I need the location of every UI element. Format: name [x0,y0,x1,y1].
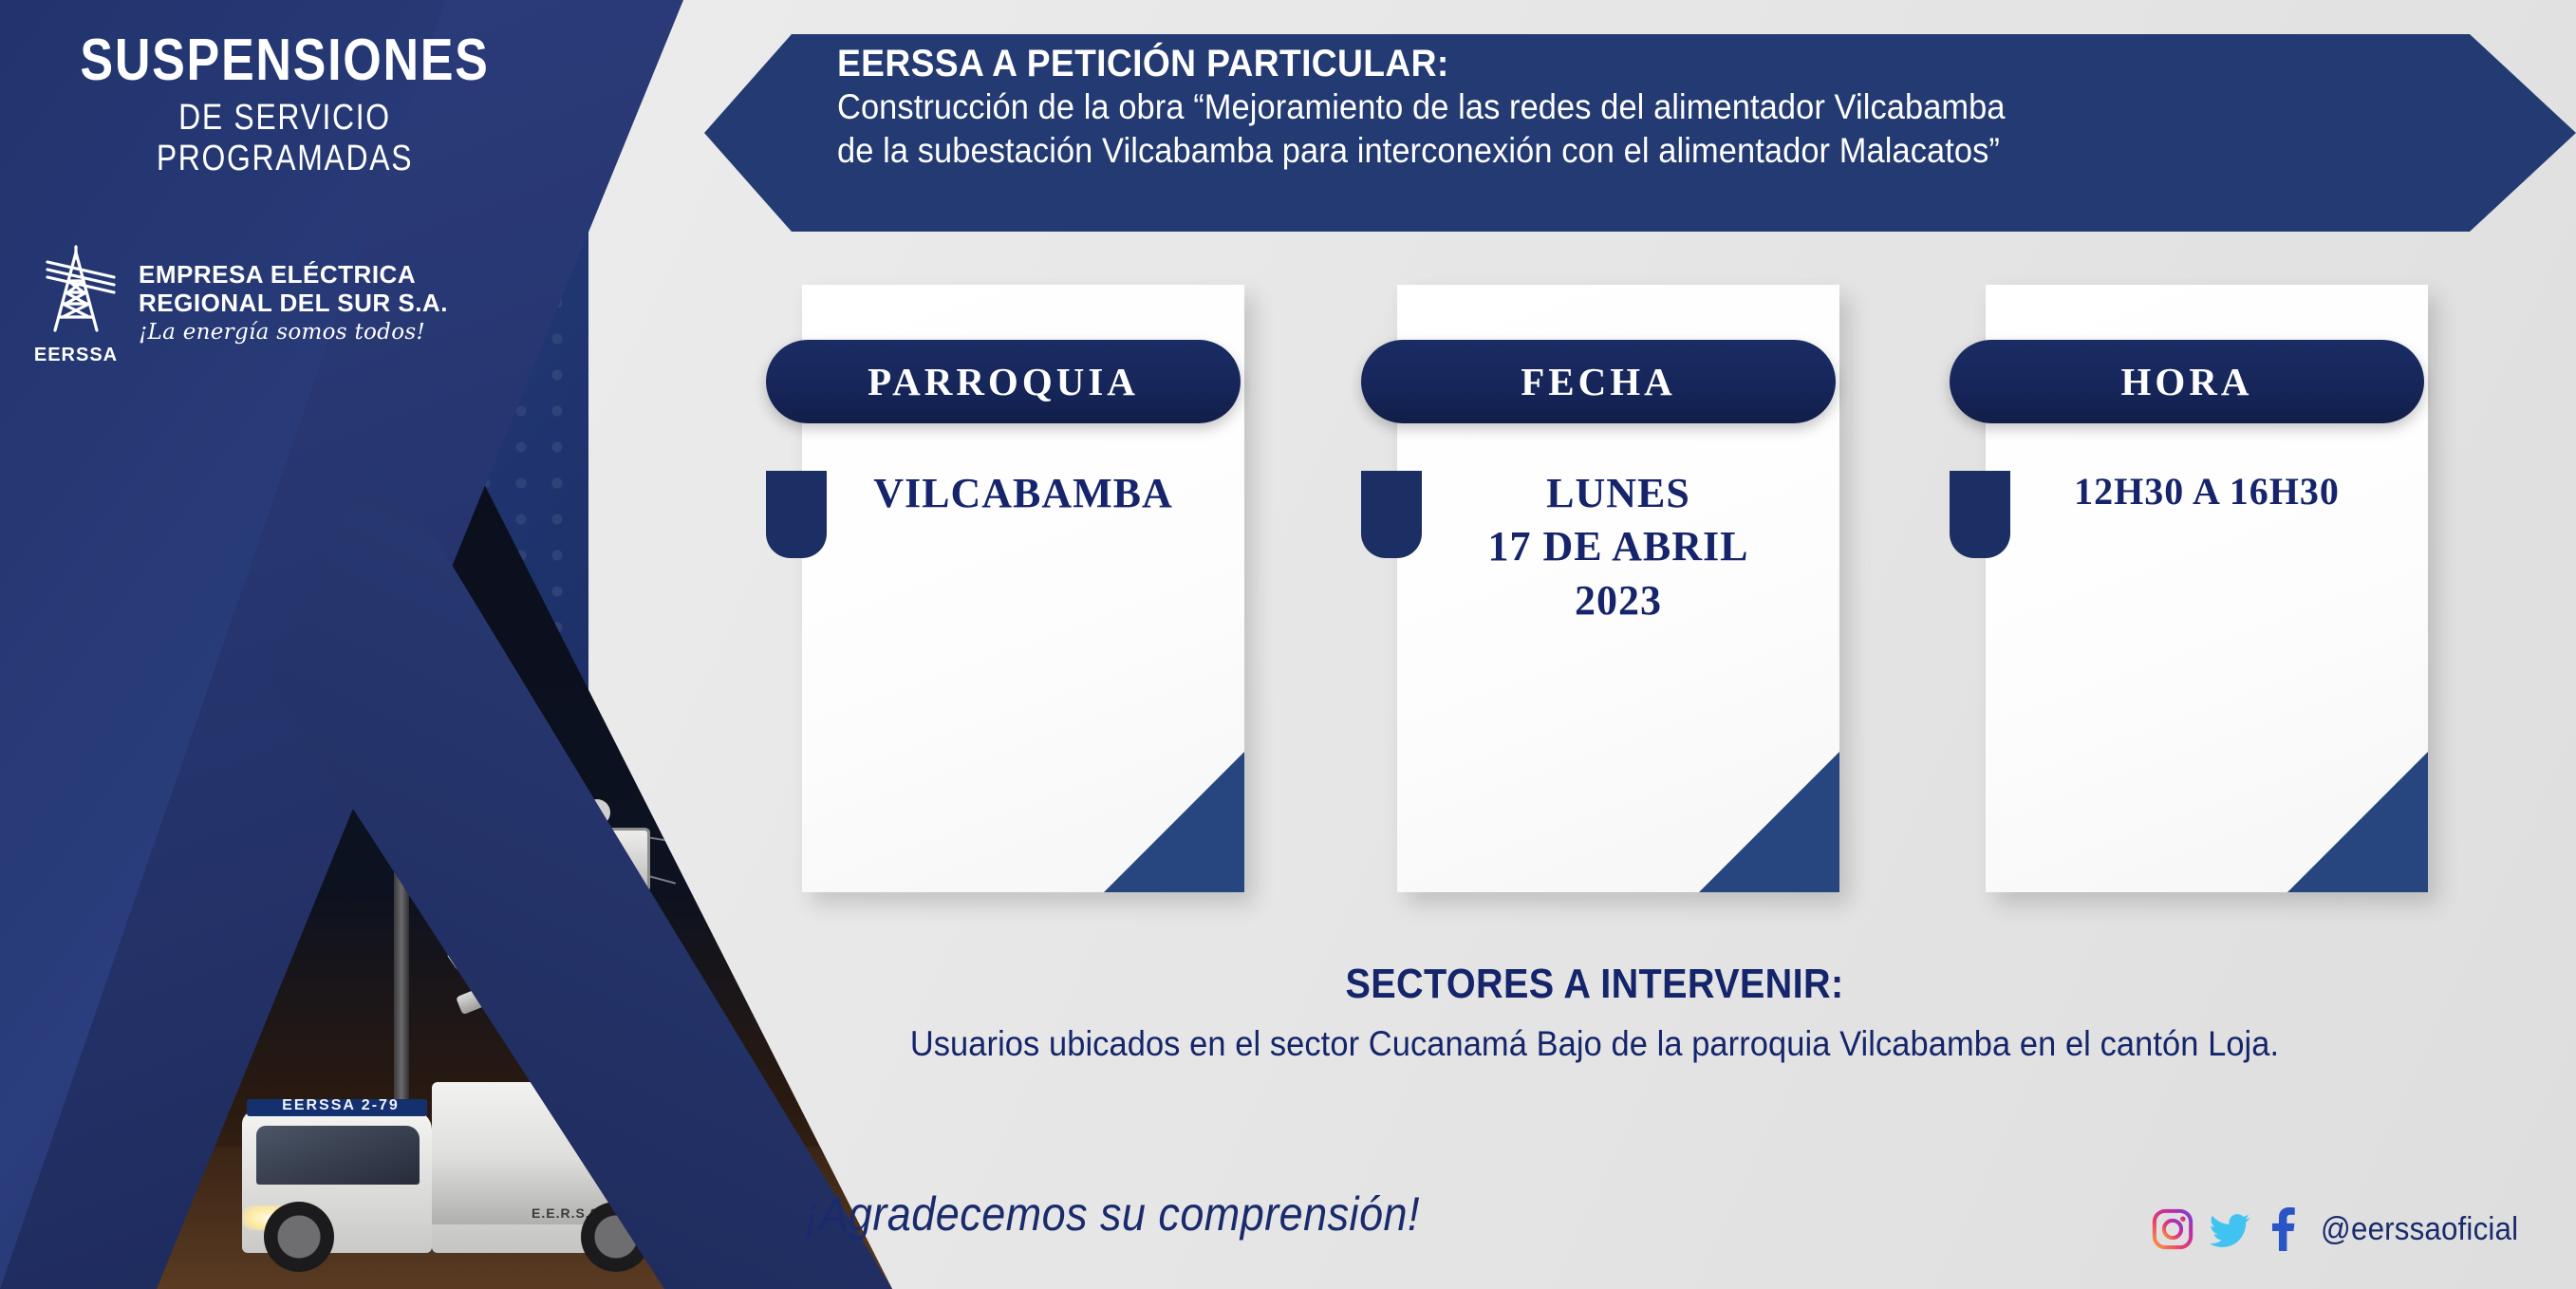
truck-badge-text: EERSSA 2-79 [252,1097,429,1114]
transmission-tower-icon [27,239,125,338]
ribbon-fold-tail [1950,471,2010,558]
info-card-parroquia: PARROQUIA VILCABAMBA [802,285,1244,892]
truck-wheel [264,1202,334,1272]
ribbon-fold-tail [766,471,827,558]
card-value: VILCABAMBA [819,467,1227,520]
company-name-block: EMPRESA ELÉCTRICA REGIONAL DEL SUR S.A. … [139,261,448,344]
sectors-section: SECTORES A INTERVENIR: Usuarios ubicados… [797,961,2392,1067]
info-card-fecha: FECHA LUNES 17 DE ABRIL 2023 [1397,285,1839,892]
card-corner-fold [1699,752,1839,892]
instagram-icon[interactable] [2151,1207,2194,1251]
title-line-1: SUSPENSIONES [46,27,524,94]
card-label: PARROQUIA [868,359,1139,404]
company-line-2: REGIONAL DEL SUR S.A. [139,290,448,317]
info-card-hora: HORA 12H30 A 16H30 [1986,285,2428,892]
card-ribbon-header: FECHA [1361,340,1836,423]
card-ribbon-header: HORA [1950,340,2424,423]
company-slogan: ¡La energía somos todos! [139,320,448,345]
suspension-notice-poster: EERSSA 2-79 E.E.R.S.S.A. SUSPENSIONES DE… [0,0,2576,1289]
truck-windshield [256,1126,420,1185]
card-label: FECHA [1521,359,1676,404]
social-media-group: @eerssaoficial [2151,1207,2527,1251]
sectors-body: Usuarios ubicados en el sector Cucanamá … [853,1021,2336,1067]
card-value: LUNES 17 DE ABRIL 2023 [1414,467,1822,627]
notice-header-banner: EERSSA A PETICIÓN PARTICULAR: Construcci… [704,13,2576,252]
social-handle[interactable]: @eerssaoficial [2321,1211,2518,1248]
banner-line-1: Construcción de la obra “Mejoramiento de… [837,85,2348,128]
card-corner-fold [1104,752,1244,892]
facebook-icon[interactable] [2267,1207,2299,1251]
thanks-message: ¡Agradecemos su comprensión! [805,1186,1420,1242]
card-ribbon-header: PARROQUIA [766,340,1241,423]
card-label: HORA [2121,359,2253,404]
eerssa-logo: EERSSA EMPRESA ELÉCTRICA REGIONAL DEL SU… [27,239,520,366]
sectors-title: SECTORES A INTERVENIR: [877,961,2312,1008]
banner-title: EERSSA A PETICIÓN PARTICULAR: [837,42,2348,85]
company-line-1: EMPRESA ELÉCTRICA [139,261,448,289]
poster-title: SUSPENSIONES DE SERVICIO PROGRAMADAS [0,27,569,179]
logo-wordmark: EERSSA [27,345,125,366]
twitter-icon[interactable] [2208,1207,2253,1251]
title-line-2: DE SERVICIO PROGRAMADAS [46,98,524,179]
banner-text-block: EERSSA A PETICIÓN PARTICULAR: Construcci… [837,42,2462,172]
ribbon-fold-tail [1361,471,1422,558]
banner-line-2: de la subestación Vilcabamba para interc… [837,129,2348,172]
logo-mark-group: EERSSA [27,239,125,366]
card-value: 12H30 A 16H30 [2003,467,2411,515]
card-corner-fold [2287,752,2428,892]
